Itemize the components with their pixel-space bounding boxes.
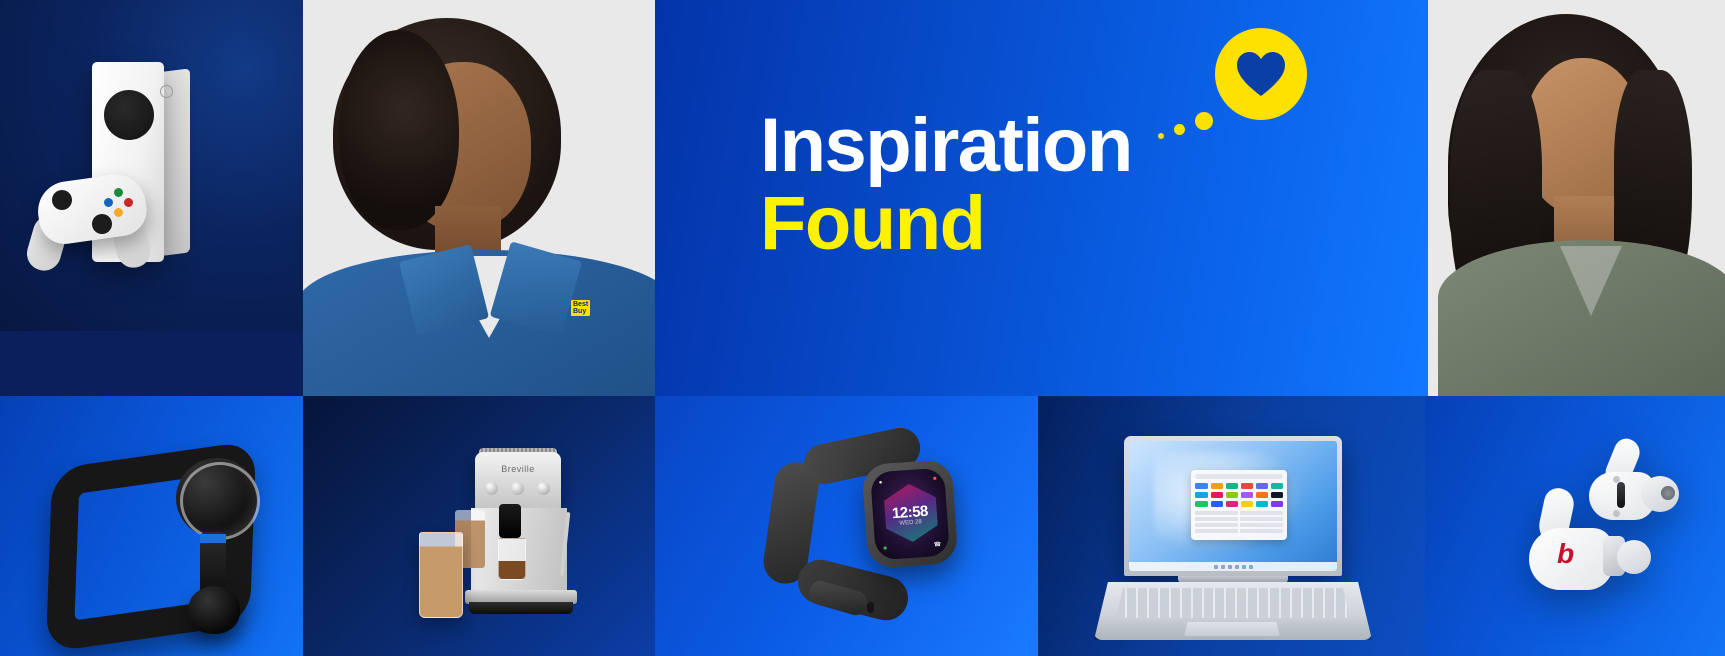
hero-line-two: Found <box>760 188 1132 260</box>
thought-dot-medium <box>1174 124 1185 135</box>
promotional-banner: Best Buy Inspiration Found <box>0 0 1725 656</box>
thought-dot-large <box>1195 112 1213 130</box>
windows-start-menu <box>1191 470 1287 540</box>
best-buy-logo-badge: Best Buy <box>571 300 590 316</box>
best-buy-employee-tile[interactable]: Best Buy <box>303 0 655 398</box>
hero-headline: Inspiration Found <box>760 110 1132 260</box>
hero-line-one: Inspiration <box>760 110 1132 182</box>
heart-icon <box>1215 28 1307 120</box>
xbox-series-s-tile[interactable] <box>0 0 303 331</box>
hero-tile[interactable]: Inspiration Found <box>655 0 1428 396</box>
watch-face: ● ■ ■ ☎ 12:58 WED 28 <box>870 468 950 561</box>
beats-logo: b <box>1557 540 1574 568</box>
espresso-machine-tile[interactable]: Breville <box>303 396 655 656</box>
windows-taskbar <box>1129 562 1337 571</box>
massage-gun-tile[interactable] <box>0 396 303 656</box>
earbuds-tile[interactable]: b <box>1425 396 1725 656</box>
customer-portrait-tile[interactable] <box>1428 0 1725 398</box>
thought-dot-small <box>1158 133 1164 139</box>
espresso-brand-label: Breville <box>475 464 561 474</box>
smartwatch-tile[interactable]: ● ■ ■ ☎ 12:58 WED 28 <box>655 396 1038 656</box>
laptop-tile[interactable] <box>1038 396 1425 656</box>
